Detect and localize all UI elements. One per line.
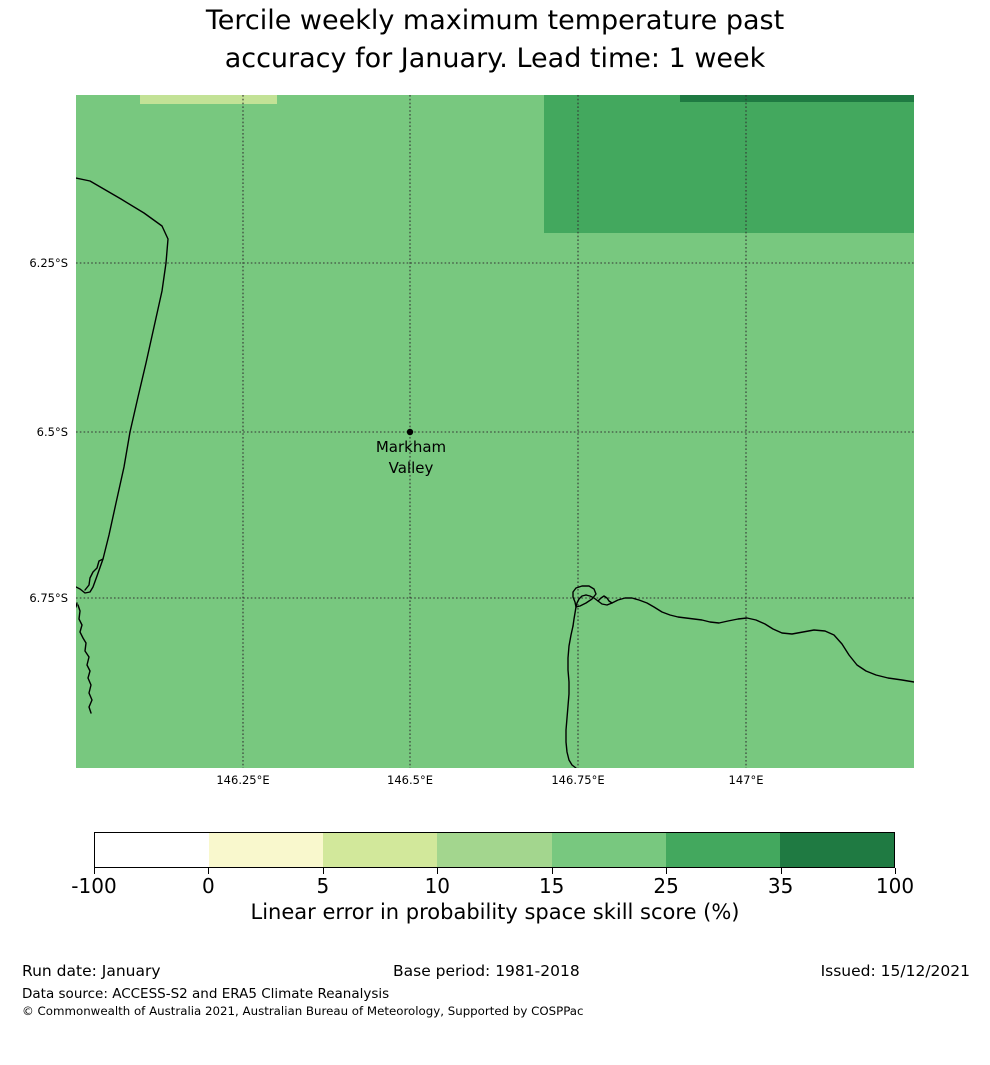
colorbar-gradient[interactable] bbox=[94, 832, 895, 868]
colorbar-segment-25-35 bbox=[666, 833, 780, 867]
footer-meta-row: Run date: January Base period: 1981-2018… bbox=[0, 962, 990, 984]
heatmap-cell-pale-strip-top-left bbox=[140, 95, 277, 104]
colorbar-ticklabel--100: -100 bbox=[71, 874, 116, 898]
colorbar-ticklabel-25: 25 bbox=[653, 874, 678, 898]
map-canvas bbox=[76, 95, 914, 768]
x-axis-tick-label-146-5-E: 146.5°E bbox=[387, 773, 433, 787]
colorbar-segment-35-100 bbox=[780, 833, 894, 867]
colorbar-ticklabel-5: 5 bbox=[317, 874, 330, 898]
x-axis-tick-label-146-25-E: 146.25°E bbox=[216, 773, 269, 787]
colorbar-ticklabel-35: 35 bbox=[768, 874, 793, 898]
markham-valley-label: Markham Valley bbox=[376, 437, 446, 479]
footer-issued-date: Issued: 15/12/2021 bbox=[821, 962, 970, 980]
footer-base-period: Base period: 1981-2018 bbox=[393, 962, 580, 980]
page-title: Tercile weekly maximum temperature past … bbox=[0, 0, 990, 78]
y-axis-tick-label-6-25-S: 6.25°S bbox=[10, 256, 68, 270]
footer-data-source: Data source: ACCESS-S2 and ERA5 Climate … bbox=[22, 986, 389, 1002]
colorbar-ticklabel-10: 10 bbox=[425, 874, 450, 898]
colorbar-title: Linear error in probability space skill … bbox=[0, 900, 990, 924]
heatmap-cell-block-top-right bbox=[544, 95, 914, 233]
markham-valley-marker[interactable] bbox=[407, 429, 413, 435]
colorbar-ticklabel-15: 15 bbox=[539, 874, 564, 898]
colorbar-segment-15-25 bbox=[552, 833, 666, 867]
colorbar[interactable]: -100 0 5 10 15 25 35 100 bbox=[94, 832, 895, 868]
colorbar-segment--100-0 bbox=[95, 833, 209, 867]
colorbar-segment-5-10 bbox=[323, 833, 437, 867]
map-panel[interactable] bbox=[76, 95, 914, 768]
footer-copyright: © Commonwealth of Australia 2021, Austra… bbox=[22, 1004, 584, 1018]
x-axis-tick-label-146-75-E: 146.75°E bbox=[551, 773, 604, 787]
colorbar-segment-0-5 bbox=[209, 833, 323, 867]
footer-run-date: Run date: January bbox=[22, 962, 161, 980]
colorbar-segment-10-15 bbox=[437, 833, 551, 867]
colorbar-ticklabel-0: 0 bbox=[202, 874, 215, 898]
heatmap-cell-strip-dark-top-right bbox=[680, 95, 914, 102]
y-axis-tick-label-6-75-S: 6.75°S bbox=[10, 591, 68, 605]
y-axis-tick-label-6-5-S: 6.5°S bbox=[10, 425, 68, 439]
colorbar-ticklabel-100: 100 bbox=[876, 874, 914, 898]
x-axis-tick-label-147-E: 147°E bbox=[729, 773, 764, 787]
